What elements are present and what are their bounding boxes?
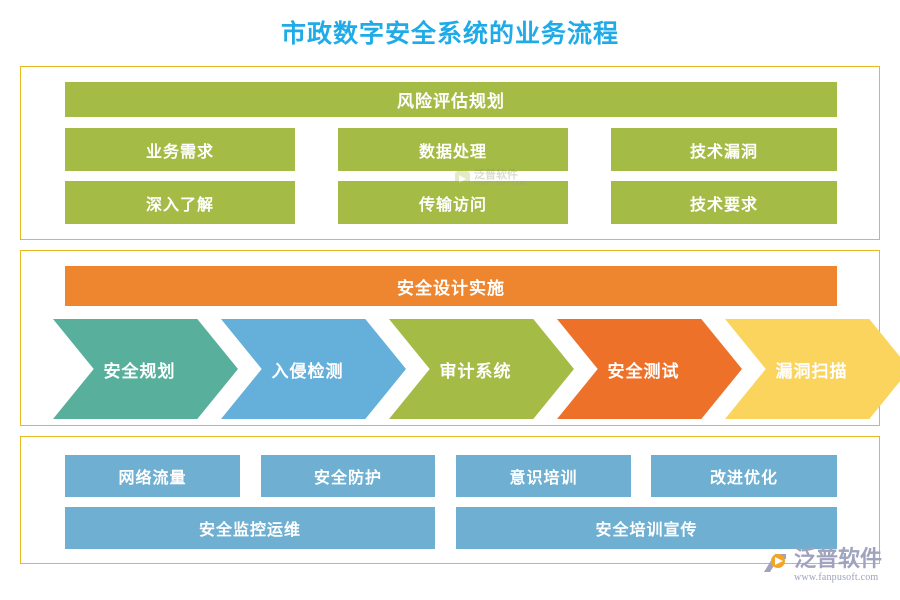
design-step-security-testing[interactable]: 安全测试 (557, 319, 742, 419)
monitor-item-security-training-promotion[interactable]: 安全培训宣传 (456, 507, 837, 549)
design-step-label: 安全测试 (608, 357, 680, 382)
risk-item-label: 技术漏洞 (690, 138, 758, 162)
design-step-label: 漏洞扫描 (776, 357, 848, 382)
monitor-item-label: 安全监控运维 (199, 516, 301, 540)
design-step-label: 安全规划 (104, 357, 176, 382)
design-step-label: 入侵检测 (272, 357, 344, 382)
flowchart-page: 市政数字安全系统的业务流程 风险评估规划 业务需求 数据处理 技术漏洞 深入了解… (0, 0, 900, 600)
risk-item-data-processing[interactable]: 数据处理 (338, 128, 568, 171)
design-step-security-planning[interactable]: 安全规划 (53, 319, 238, 419)
monitor-item-label: 网络流量 (118, 464, 186, 488)
design-step-intrusion-detection[interactable]: 入侵检测 (221, 319, 406, 419)
risk-item-label: 技术要求 (690, 191, 758, 215)
risk-section-header-label: 风险评估规划 (397, 87, 505, 112)
monitor-item-improvement-optimization[interactable]: 改进优化 (651, 455, 837, 497)
risk-item-deep-understanding[interactable]: 深入了解 (65, 181, 295, 224)
section-risk-assessment: 风险评估规划 业务需求 数据处理 技术漏洞 深入了解 传输访问 技术要求 (20, 66, 880, 240)
brand-logo: 泛普软件 www.fanpusoft.com (762, 548, 882, 583)
brand-logo-name: 泛普软件 (794, 548, 882, 570)
design-step-audit-system[interactable]: 审计系统 (389, 319, 574, 419)
risk-item-technical-vulnerability[interactable]: 技术漏洞 (611, 128, 837, 171)
monitor-item-awareness-training[interactable]: 意识培训 (456, 455, 631, 497)
page-title: 市政数字安全系统的业务流程 (0, 14, 900, 50)
design-step-label: 审计系统 (440, 357, 512, 382)
section-monitoring-training: 网络流量 安全防护 意识培训 改进优化 安全监控运维 安全培训宣传 (20, 436, 880, 564)
monitor-item-label: 意识培训 (509, 464, 577, 488)
risk-item-label: 深入了解 (146, 191, 214, 215)
design-section-header-label: 安全设计实施 (397, 274, 505, 299)
monitor-item-label: 改进优化 (710, 464, 778, 488)
risk-item-label: 业务需求 (146, 138, 214, 162)
section-security-design: 安全设计实施 安全规划 入侵检测 审计系统 安全测试 漏洞扫描 (20, 250, 880, 426)
monitor-item-label: 安全培训宣传 (595, 516, 697, 540)
risk-item-label: 传输访问 (419, 191, 487, 215)
monitor-item-security-monitoring-ops[interactable]: 安全监控运维 (65, 507, 435, 549)
design-step-vulnerability-scan[interactable]: 漏洞扫描 (725, 319, 900, 419)
brand-logo-text-wrap: 泛普软件 www.fanpusoft.com (794, 548, 882, 583)
monitor-item-security-protection[interactable]: 安全防护 (261, 455, 435, 497)
design-section-header: 安全设计实施 (65, 266, 837, 306)
design-step-chevron-row: 安全规划 入侵检测 审计系统 安全测试 漏洞扫描 (31, 319, 871, 419)
risk-item-transmission-access[interactable]: 传输访问 (338, 181, 568, 224)
monitor-item-label: 安全防护 (314, 464, 382, 488)
brand-logo-url: www.fanpusoft.com (794, 572, 882, 583)
risk-section-header: 风险评估规划 (65, 82, 837, 117)
monitor-item-network-traffic[interactable]: 网络流量 (65, 455, 240, 497)
risk-item-label: 数据处理 (419, 138, 487, 162)
risk-item-technical-requirements[interactable]: 技术要求 (611, 181, 837, 224)
risk-item-business-requirements[interactable]: 业务需求 (65, 128, 295, 171)
fanpu-logo-icon (762, 550, 789, 577)
